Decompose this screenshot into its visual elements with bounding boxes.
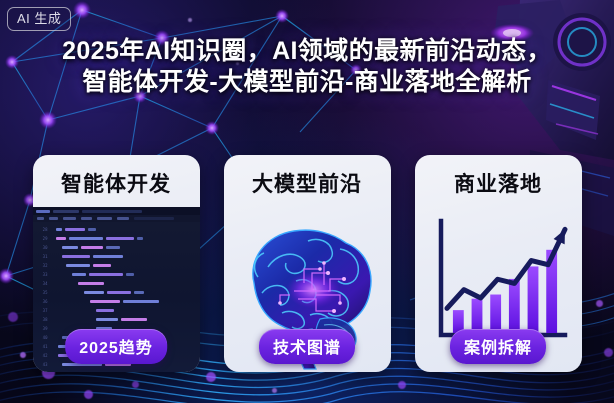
chart-bar [527, 266, 538, 333]
card-title-large-model-frontier: 大模型前沿 [252, 168, 362, 198]
card-large-model-frontier[interactable]: 大模型前沿 [224, 155, 391, 372]
chart-bar [471, 299, 482, 333]
chart-bar [490, 295, 501, 333]
page-title: 2025年AI知识圈，AI领域的最新前沿动态， 智能体开发-大模型前沿-商业落地… [0, 36, 614, 98]
card-pill-agent-development[interactable]: 2025趋势 [65, 329, 167, 364]
card-commercial-landing[interactable]: 商业落地 案例拆解 [415, 155, 582, 372]
card-title-commercial-landing: 商业落地 [454, 168, 542, 198]
chart-bar [508, 279, 519, 333]
feature-cards-row: 智能体开发 [0, 155, 614, 372]
editor-menubar [33, 215, 200, 222]
card-pill-large-model-frontier[interactable]: 技术图谱 [259, 329, 355, 364]
card-pill-commercial-landing[interactable]: 案例拆解 [450, 329, 546, 364]
card-agent-development[interactable]: 智能体开发 [33, 155, 200, 372]
editor-titlebar [33, 207, 200, 215]
ai-generated-badge: AI 生成 [7, 7, 71, 31]
poster-canvas: AI 生成 2025年AI知识圈，AI领域的最新前沿动态， 智能体开发-大模型前… [0, 0, 614, 403]
card-title-agent-development: 智能体开发 [61, 168, 171, 198]
